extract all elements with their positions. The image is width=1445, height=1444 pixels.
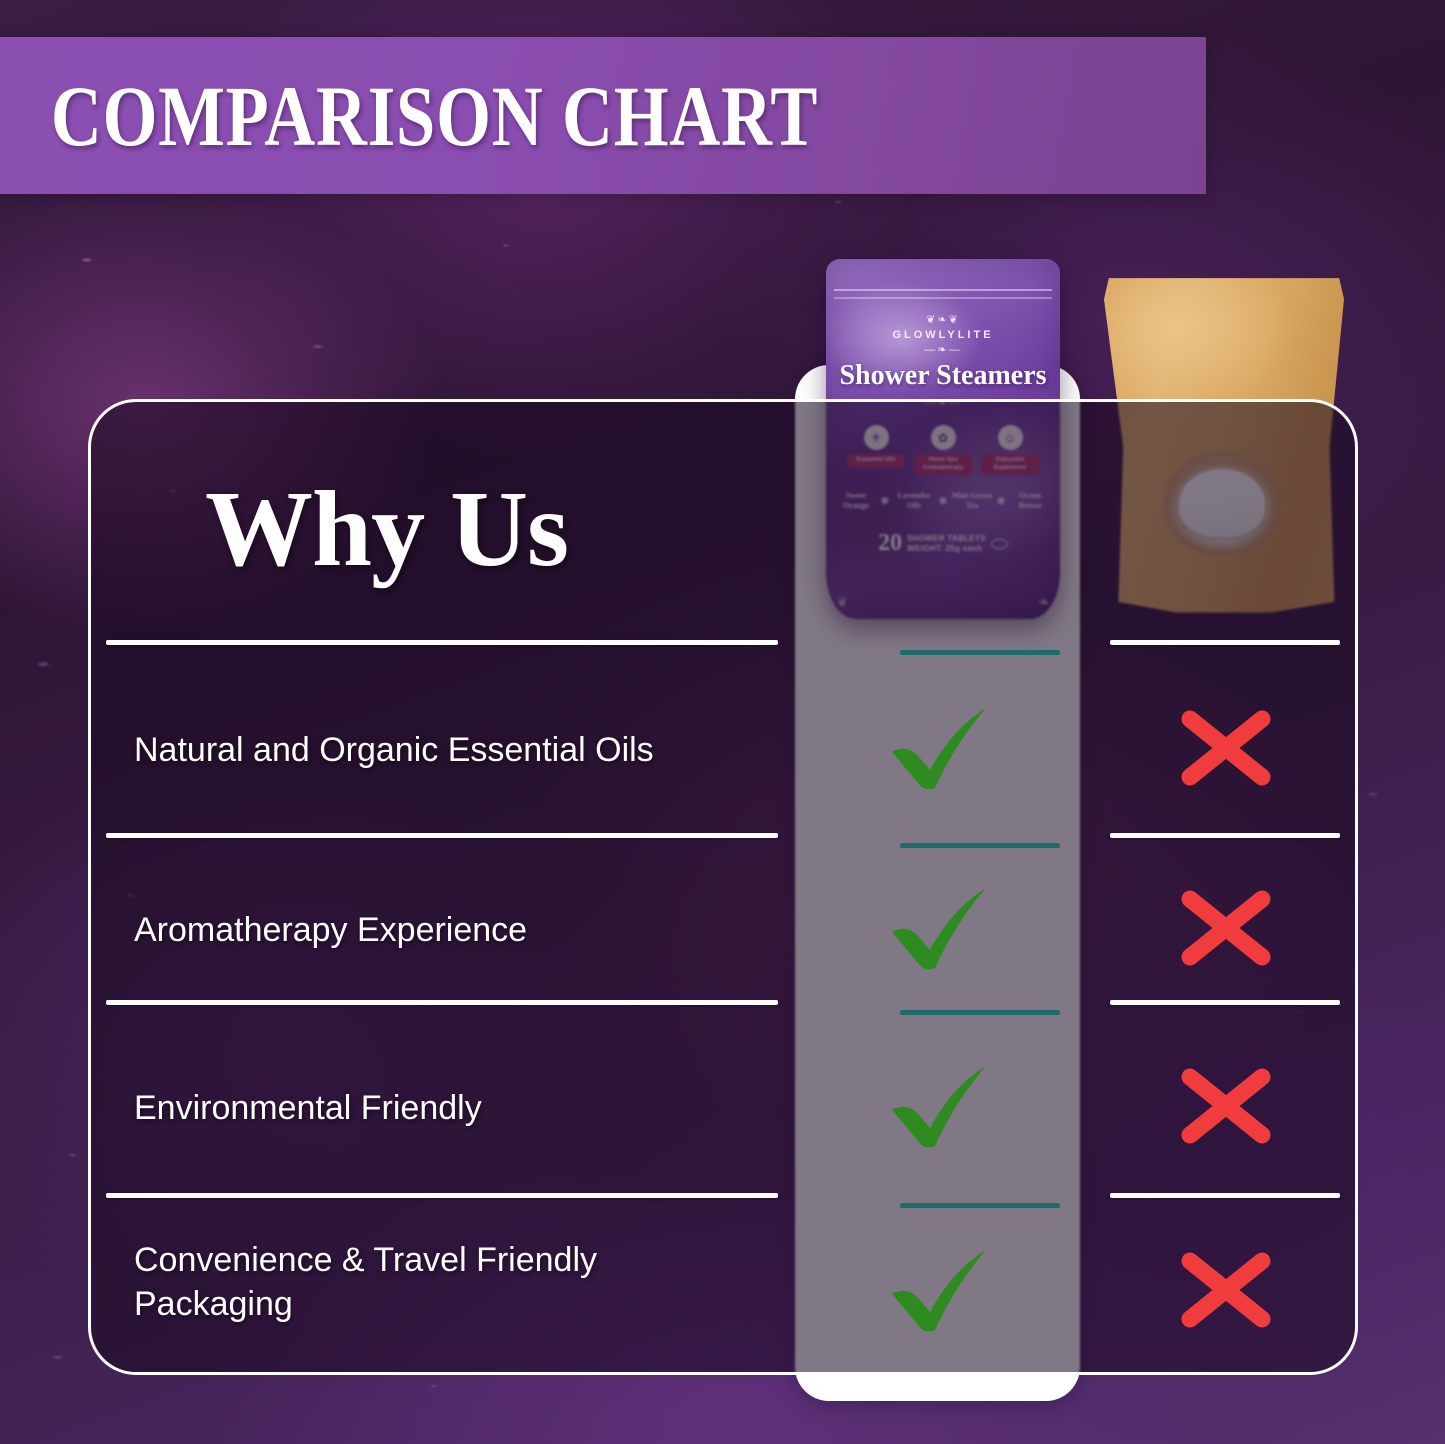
row-divider-left <box>106 1193 778 1198</box>
row-divider-right <box>1110 1000 1340 1005</box>
row-divider-right <box>1110 640 1340 645</box>
row-divider-mid <box>900 843 1060 848</box>
cross-icon <box>1168 880 1284 976</box>
row-divider-right <box>1110 1193 1340 1198</box>
row-divider-mid <box>900 1010 1060 1015</box>
row-divider-left <box>106 833 778 838</box>
check-icon <box>878 880 998 976</box>
check-icon <box>878 1058 998 1154</box>
feature-label: Environmental Friendly <box>134 1086 774 1130</box>
feature-label: Aromatherapy Experience <box>134 908 774 952</box>
row-divider-left <box>106 640 778 645</box>
cross-icon <box>1168 700 1284 796</box>
check-icon <box>878 700 998 796</box>
cross-icon <box>1168 1058 1284 1154</box>
comparison-rows: Natural and Organic Essential Oils Aroma… <box>0 0 1445 1444</box>
feature-label: Convenience & Travel Friendly Packaging <box>134 1238 694 1326</box>
check-icon <box>878 1242 998 1338</box>
row-divider-right <box>1110 833 1340 838</box>
row-divider-mid <box>900 650 1060 655</box>
feature-label: Natural and Organic Essential Oils <box>134 728 774 772</box>
row-divider-left <box>106 1000 778 1005</box>
cross-icon <box>1168 1242 1284 1338</box>
row-divider-mid <box>900 1203 1060 1208</box>
